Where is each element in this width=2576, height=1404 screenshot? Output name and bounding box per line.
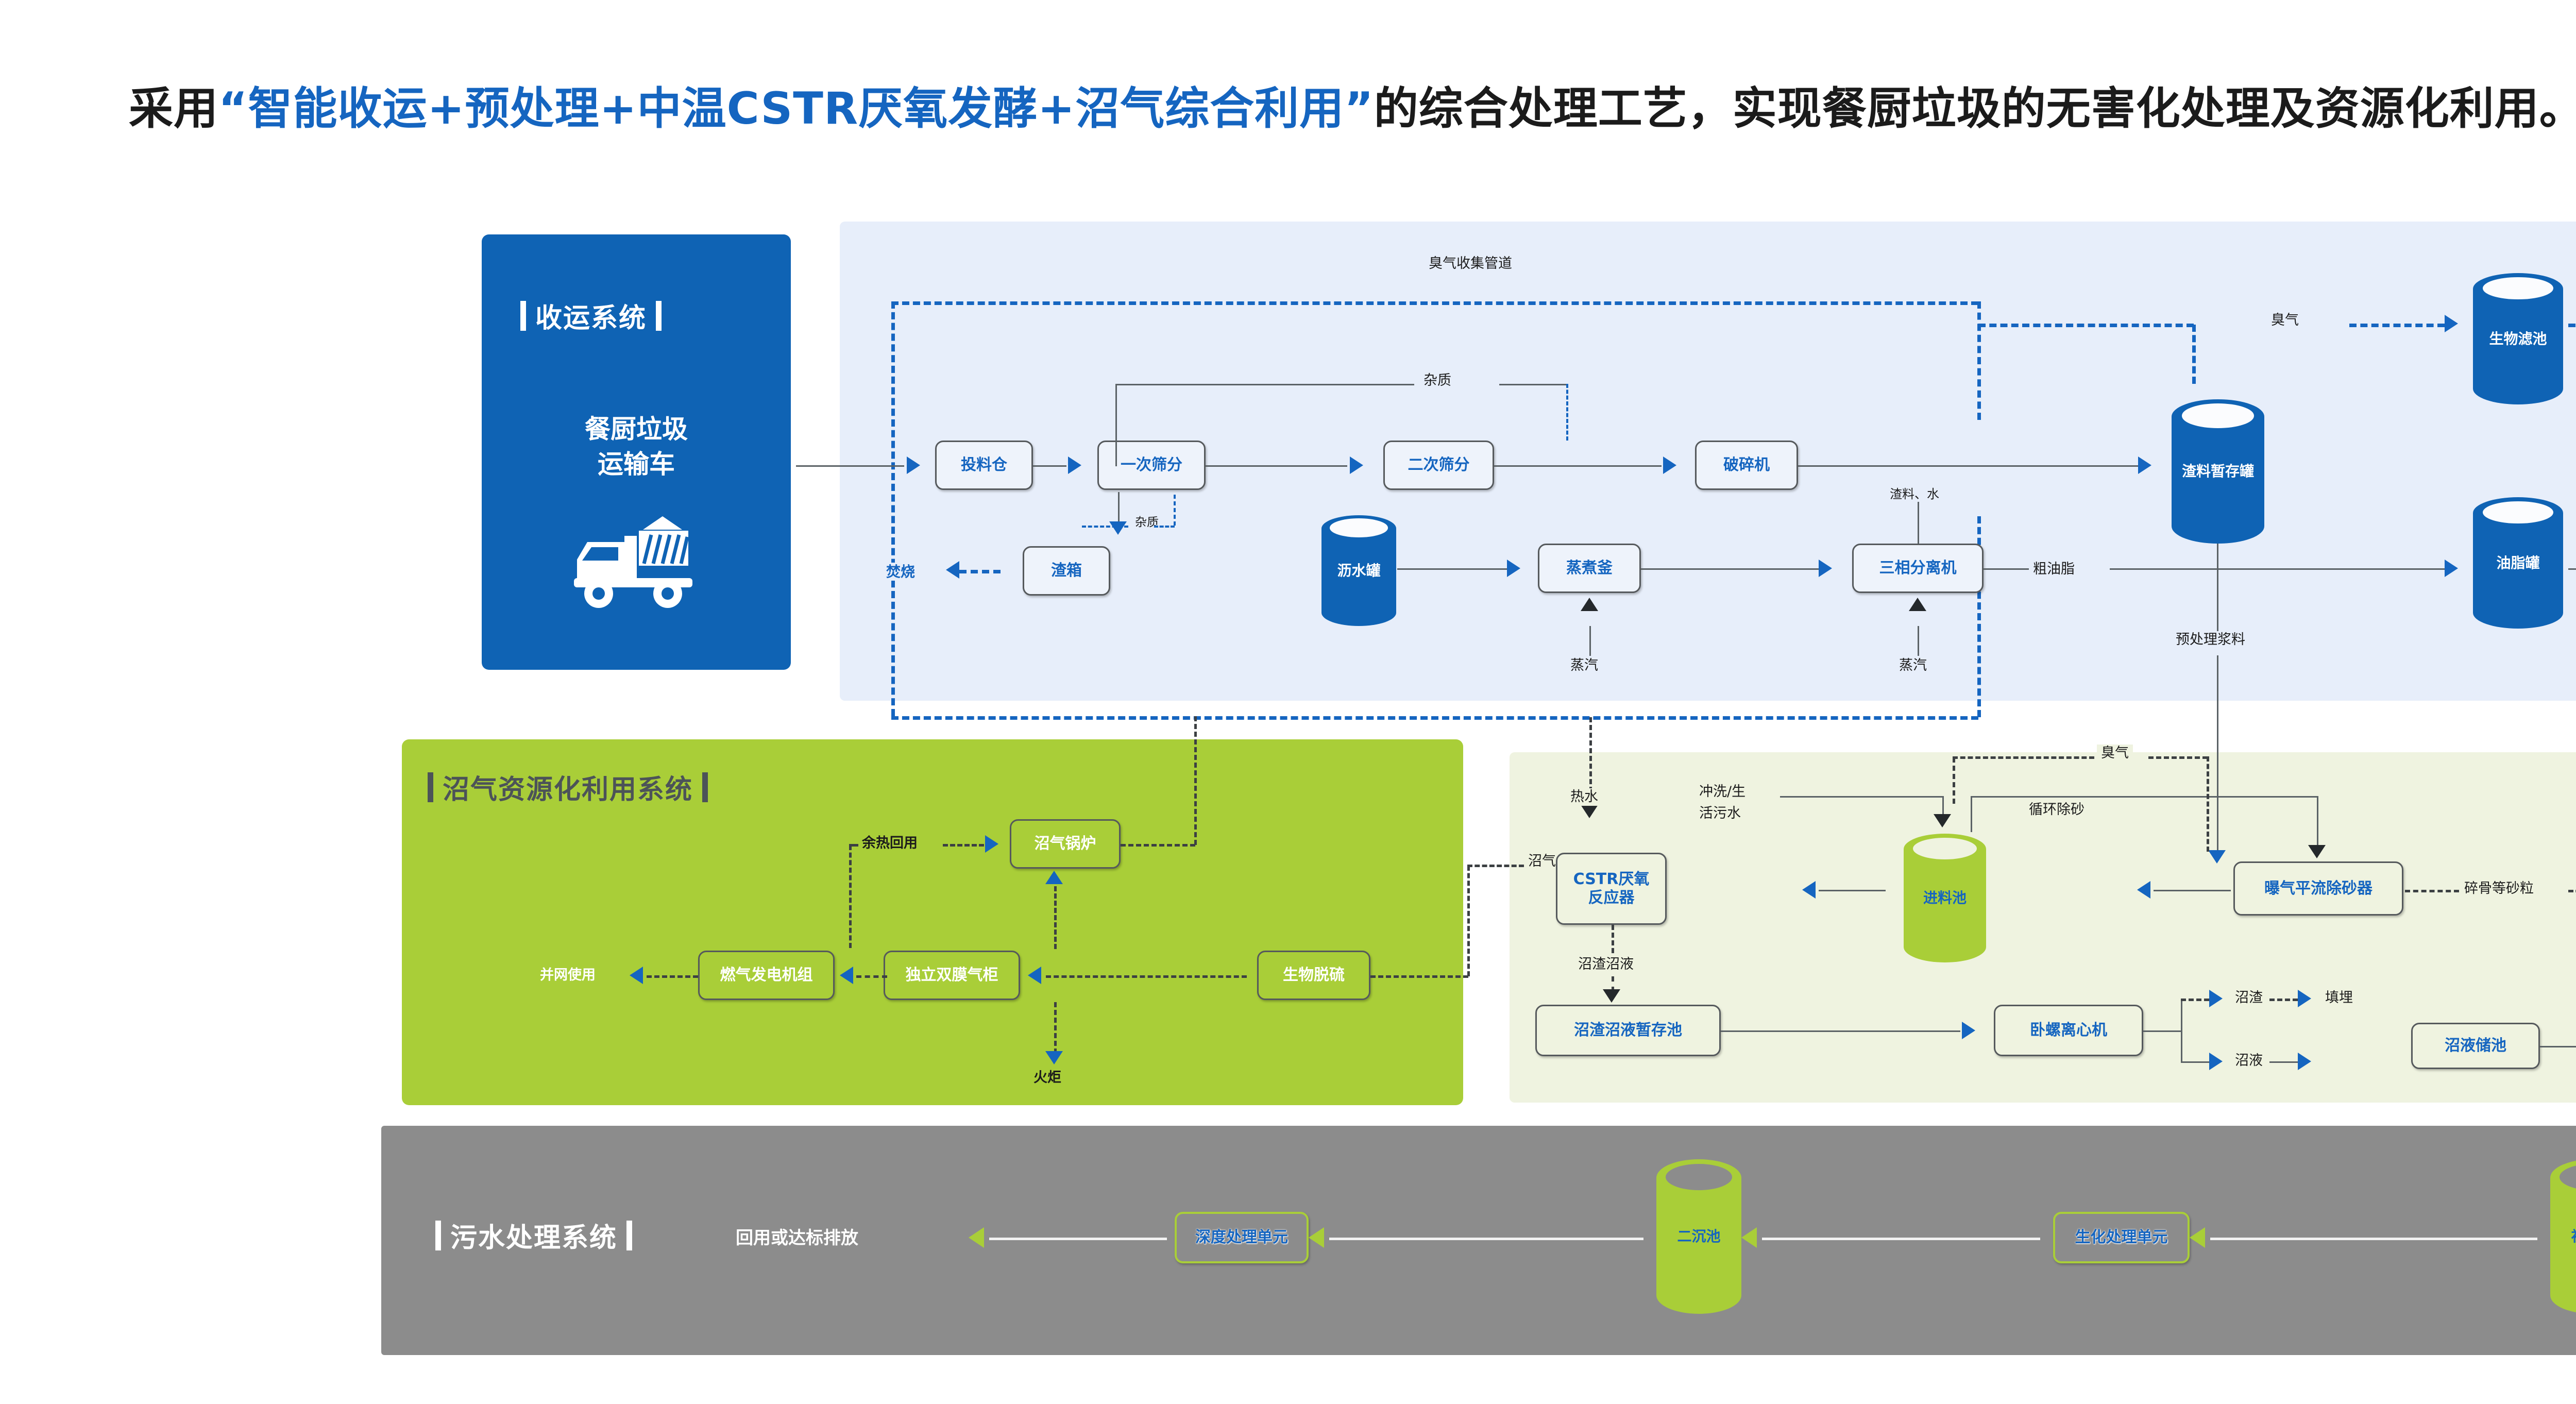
header-bar-left [435,1221,441,1250]
node-label-line1: CSTR厌氧 [1573,870,1650,889]
conn-crusher-to-slagtank [1798,465,2138,467]
node-biofilter[interactable]: 生物滤池 [2473,273,2563,404]
impurity-loop-down [1566,384,1568,441]
conn-advanced-to-reuse [989,1238,1167,1240]
arrow-up [1909,598,1926,611]
collection-title: 收运系统 [535,296,647,335]
node-three-phase-separator[interactable]: 三相分离机 [1852,544,1984,593]
biogas-title: 沼气资源化利用系统 [443,768,693,806]
arrow-down [1045,1051,1063,1064]
arrow-right [1068,456,1081,474]
conn-boiler-riser [1194,716,1197,845]
collection-section-header: 收运系统 [520,296,662,335]
slurry-line-a [2217,544,2218,631]
arrow-left [840,967,853,984]
garbage-truck-icon [567,510,706,613]
arrow-left [1028,967,1041,984]
arrow-down [2208,850,2226,864]
label-flare: 火炬 [1029,1069,1065,1087]
arrow-right [2298,990,2311,1007]
label-landfill: 填埋 [2321,989,2357,1007]
conn-residue-landfill [2269,999,2298,1001]
conn-slurry [2181,1061,2209,1063]
odor-duct-top [891,301,1978,305]
node-cstr-reactor[interactable]: CSTR厌氧 反应器 [1556,853,1667,925]
conn-slurry-tank [2269,1061,2298,1063]
node-digestate-pool[interactable]: 沼渣沼液暂存池 [1535,1005,1721,1056]
odor-branch-horiz [1978,324,2194,327]
process-flow-diagram: 采用“智能收运+预处理+中温CSTR厌氧发酵+沼气综合利用”的综合处理工艺，实现… [0,0,2576,1404]
arrow-left [946,561,959,579]
node-second-settler[interactable]: 二沉池 [1656,1159,1741,1314]
node-bio-desulfur[interactable]: 生物脱硫 [1257,951,1370,1000]
wastewater-section-header: 污水处理系统 [435,1216,632,1255]
header-bar-right [656,301,662,331]
vehicle-label: 餐厨垃圾 运输车 [482,412,791,482]
label-circ-sand: 循环除砂 [2025,801,2089,819]
label-digestate: 沼渣沼液 [1574,956,1638,973]
node-label: 进料池 [1904,889,1986,907]
label-bone-grit: 碎骨等砂粒 [2460,880,2538,898]
arrow-right [1663,456,1676,474]
node-label: 沥水罐 [1321,562,1396,580]
arrow-left [1309,1227,1324,1248]
label-reuse-or-discharge: 回用或达标排放 [732,1227,862,1249]
header-bar-right [702,772,708,802]
header-bar-left [520,301,526,331]
conn-grit-to-feedpool [2154,890,2231,891]
label-steam-1: 蒸汽 [1566,657,1602,674]
arrow-down [2308,845,2326,858]
impurity-label-mid: 杂质 [1131,515,1163,530]
conn-tank-to-wwtp [2540,1046,2576,1047]
node-feed-bin[interactable]: 投料仓 [935,441,1033,490]
impurity-mid-dash2 [1154,526,1175,528]
title-highlight: “智能收运+预处理+中温CSTR厌氧发酵+沼气综合利用” [218,83,1374,134]
node-gas-generator[interactable]: 燃气发电机组 [698,951,835,1000]
cylinder-top [2483,501,2553,523]
circ-sand-left [1971,796,1972,832]
conn-desulfur-to-cabinet [1046,975,1247,978]
page-title: 采用“智能收运+预处理+中温CSTR厌氧发酵+沼气综合利用”的综合处理工艺，实现… [129,72,2576,137]
conn-biogas-to-cstr [1467,865,1524,867]
conn-slagbox-to-incinerate [959,570,1001,573]
label-wash-sewage-2: 活污水 [1695,805,1745,822]
label-biogas: 沼气 [1524,853,1560,870]
conn-generator-to-grid [647,975,698,978]
conn-separator-to-grease-b [2110,568,2445,570]
node-primary-screen[interactable]: 一次筛分 [1097,441,1206,490]
node-primary-settler[interactable]: 初沉池 [2550,1159,2576,1314]
header-bar-left [428,772,433,802]
odor-anaer-left [1953,757,1955,804]
node-biogas-boiler[interactable]: 沼气锅炉 [1010,819,1121,869]
cylinder-top [1913,838,1977,860]
arrow-right [907,456,920,474]
label-waste-heat: 余热回用 [858,835,922,852]
steam1-line [1589,626,1591,656]
arrow-right [1962,1022,1975,1039]
label-grid-use: 并网使用 [536,967,600,984]
steam2-line [1918,626,1919,656]
arrow-right [1819,560,1832,577]
conn-grit-bone-b [2568,890,2576,892]
conn-digestate-to-decanter [1721,1030,1960,1032]
odor-anaer-top2 [2148,756,2208,759]
circ-sand-top [1971,796,2318,798]
arrow-up [1045,871,1063,884]
node-drain-tank[interactable]: 沥水罐 [1321,515,1396,626]
conn-truck-to-feedbin [796,465,904,467]
impurity-mid-vert [1118,492,1120,523]
conn-odor-to-biofilter [2349,324,2445,327]
conn-cstr-digestate-a [1612,925,1614,953]
conn-wasteheat-to-boiler [943,844,984,847]
node-biochem-unit[interactable]: 生化处理单元 [2053,1212,2190,1263]
conn-boiler-right [1121,844,1195,847]
conn-kettle-to-separator [1641,568,1819,570]
odor-anaer-top1 [1953,756,2094,759]
conn-biogas-vert [1467,866,1470,976]
arrow-right [1350,456,1363,474]
odor-duct-label: 臭气收集管道 [1425,255,1516,273]
label-incinerate: 焚烧 [882,563,919,581]
conn-second-to-advanced [1329,1238,1643,1240]
biogas-section-header: 沼气资源化利用系统 [428,768,708,806]
node-cooking-kettle[interactable]: 蒸煮釜 [1538,544,1641,593]
label-pretreated-slurry: 预处理浆料 [2172,631,2249,649]
node-biogas-slurry-tank[interactable]: 沼液储池 [2411,1023,2540,1069]
conn-biofilter-to-discharge [2568,324,2576,327]
label-hot-water: 热水 [1566,788,1602,806]
arrow-right [2138,456,2151,474]
label-slurry: 沼液 [2231,1052,2267,1070]
conn-screen2-to-crusher [1494,465,1662,467]
conn-biogas-to-desulfur-h [1370,975,1468,978]
conn-draintank-to-kettle [1397,568,1508,570]
cylinder-top [1666,1164,1732,1190]
impurity-mid-dash-v [1174,495,1176,526]
node-slag-box[interactable]: 渣箱 [1023,546,1110,596]
node-slag-storage-tank[interactable]: 渣料暂存罐 [2172,399,2264,544]
conn-cabinet-to-flare [1054,1002,1057,1054]
arrow-right [2298,1053,2311,1070]
conn-biochem-to-second [1762,1238,2040,1240]
arrow-left [2137,881,2150,899]
conn-feedbin-to-screen1 [1033,465,1066,467]
node-label-line2: 反应器 [1588,889,1635,907]
arrow-down [1109,521,1127,535]
conn-separator-to-grease-a [1984,568,2030,570]
label-wash-sewage-1: 冲洗/生 [1695,783,1750,801]
node-secondary-screen[interactable]: 二次筛分 [1383,441,1494,490]
arrow-right [2209,1053,2223,1070]
arrow-left [1802,881,1816,899]
node-advanced-unit[interactable]: 深度处理单元 [1175,1212,1309,1263]
conn-decanter-out [2143,1030,2182,1032]
conn-cabinet-to-generator [856,975,887,978]
node-label: 初沉池 [2550,1228,2576,1245]
node-label: 生物滤池 [2473,330,2563,348]
wasteheat-riser [849,845,852,948]
node-label: 二沉池 [1656,1228,1741,1245]
circ-sand-right [2317,796,2318,848]
impurity-label-top: 杂质 [1419,372,1455,390]
cylinder-top [2182,403,2254,428]
header-bar-right [626,1221,632,1250]
conn-grease-to-biodiesel [2568,568,2576,570]
arrow-down [1581,805,1598,818]
arrow-left [969,1227,984,1248]
odor-duct-bottom [891,716,1978,720]
conn-feedpool-to-cstr [1819,890,1886,891]
odor-duct-left [891,301,895,716]
conn-primary-to-biochem [2210,1238,2537,1240]
arrow-right [2209,990,2223,1007]
node-label: 渣料暂存罐 [2172,463,2264,480]
conn-residue [2181,999,2209,1001]
arrow-down [1603,989,1620,1003]
slurry-line-b [2217,655,2218,856]
node-crusher[interactable]: 破碎机 [1695,441,1798,490]
node-grease-tank[interactable]: 油脂罐 [2473,497,2563,629]
arrow-down [1934,814,1951,827]
conn-wash-horiz [1780,796,1942,798]
label-crude-grease: 粗油脂 [2029,561,2079,578]
impurity-loop-vert [1115,384,1117,466]
title-prefix: 采用 [129,83,218,134]
arrow-right [1507,560,1520,577]
arrow-left [2190,1227,2205,1248]
cylinder-top [2483,277,2553,299]
label-slag-water: 渣料、水 [1886,486,1943,502]
label-odor-anaer: 臭气 [2097,745,2133,762]
node-aerated-grit[interactable]: 曝气平流除砂器 [2233,861,2403,916]
conn-grit-bone-a [2405,890,2459,892]
label-steam-2: 蒸汽 [1895,657,1931,674]
wastewater-title: 污水处理系统 [450,1216,617,1255]
label-odor: 臭气 [2267,312,2303,329]
odor-duct-right-upper [1977,301,1981,420]
title-suffix: 的综合处理工艺，实现餐厨垃圾的无害化处理及资源化利用。 [1374,83,2576,134]
arrow-right [985,835,998,853]
node-label: 油脂罐 [2473,554,2563,572]
node-double-membrane[interactable]: 独立双膜气柜 [884,951,1020,1000]
odor-branch-vert [2192,325,2196,384]
conn-screen1-to-screen2 [1206,465,1347,467]
conn-cabinet-to-boiler [1054,886,1057,949]
node-decanter[interactable]: 卧螺离心机 [1994,1005,2143,1056]
wasteheat-elbow [849,844,858,847]
arrow-left [630,967,643,984]
cylinder-top [1330,518,1388,537]
impurity-loop-horiz [1115,384,1414,385]
arrow-up [1581,598,1598,611]
conn-decanter-split [2181,1000,2182,1061]
arrow-right [2445,560,2458,577]
node-feed-pool[interactable]: 进料池 [1904,834,1986,962]
impurity-mid-dash [1082,526,1128,528]
odor-anaer-right [2207,756,2209,852]
slagwater-line [1918,500,1919,544]
arrow-left [1741,1227,1757,1248]
impurity-loop-horiz2 [1499,384,1566,385]
arrow-right [2445,315,2458,332]
label-residue: 沼渣 [2231,989,2267,1007]
wastewater-panel [381,1126,2576,1355]
